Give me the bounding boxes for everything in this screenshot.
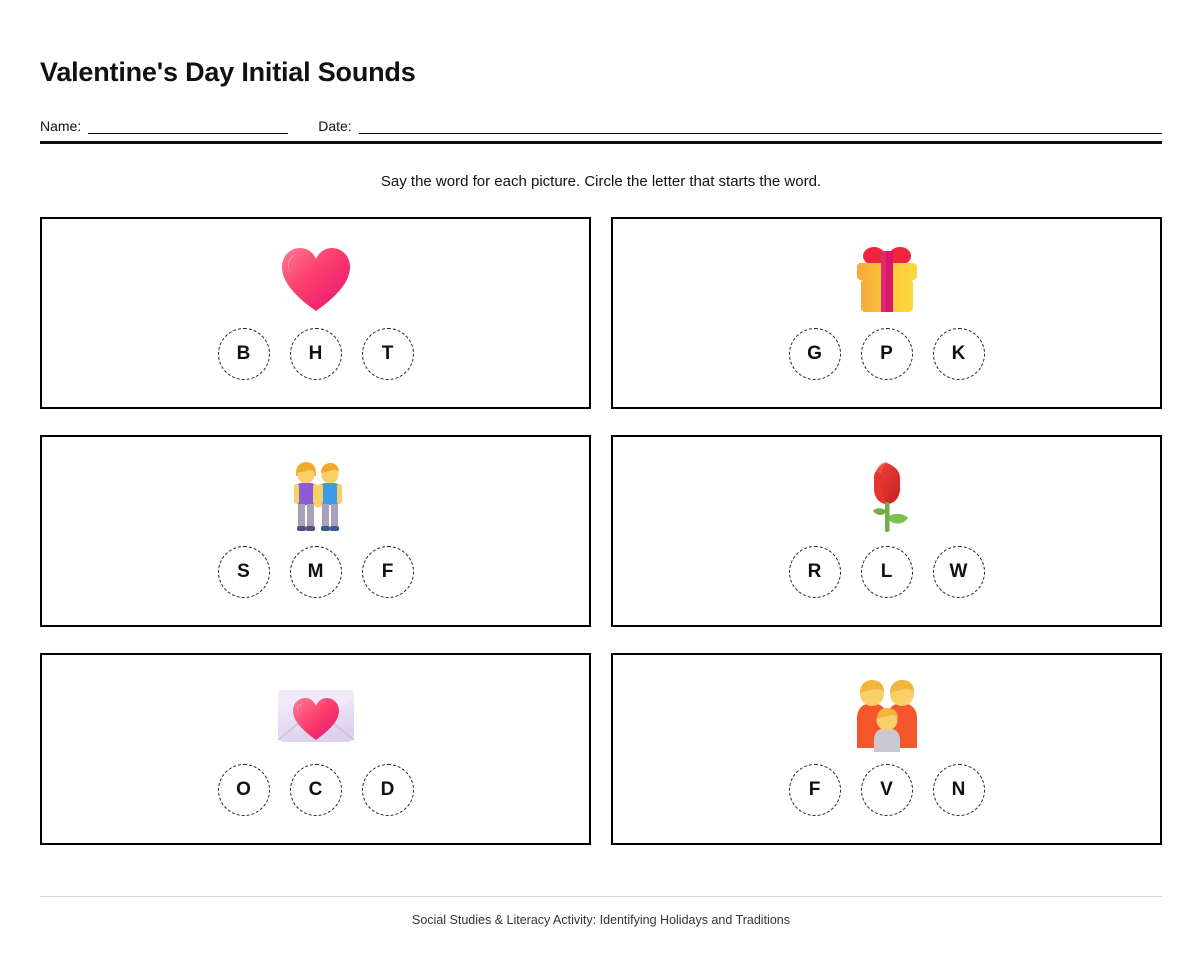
footer-text: Social Studies & Literacy Activity: Iden… <box>40 913 1162 928</box>
question-card: B H T <box>40 217 591 409</box>
footer: Social Studies & Literacy Activity: Iden… <box>40 896 1162 928</box>
question-card: G P K <box>611 217 1162 409</box>
rose-icon <box>860 459 914 537</box>
worksheet-page: Valentine's Day Initial Sounds Name: Dat… <box>0 0 1202 966</box>
choice-option[interactable]: O <box>218 764 270 816</box>
choice-row: G P K <box>789 328 985 380</box>
choice-row: O C D <box>218 764 414 816</box>
name-label: Name: <box>40 119 81 134</box>
choice-option[interactable]: H <box>290 328 342 380</box>
choice-option[interactable]: R <box>789 546 841 598</box>
gift-icon <box>848 241 926 319</box>
date-label: Date: <box>318 119 351 134</box>
choice-option[interactable]: L <box>861 546 913 598</box>
name-date-row: Name: Date: <box>40 112 1162 134</box>
name-field-group: Name: <box>40 119 288 134</box>
choice-option[interactable]: M <box>290 546 342 598</box>
choice-option[interactable]: K <box>933 328 985 380</box>
choice-row: R L W <box>789 546 985 598</box>
name-input[interactable] <box>88 121 288 134</box>
love-letter-icon <box>275 677 357 755</box>
question-card: R L W <box>611 435 1162 627</box>
footer-divider <box>40 896 1162 897</box>
date-field-group: Date: <box>318 119 1162 134</box>
choice-option[interactable]: F <box>789 764 841 816</box>
choice-option[interactable]: W <box>933 546 985 598</box>
question-grid: B H T <box>40 217 1162 845</box>
choice-option[interactable]: N <box>933 764 985 816</box>
heart-icon <box>279 241 353 319</box>
choice-row: B H T <box>218 328 414 380</box>
family-icon <box>849 677 925 755</box>
choice-option[interactable]: T <box>362 328 414 380</box>
choice-row: F V N <box>789 764 985 816</box>
choice-option[interactable]: P <box>861 328 913 380</box>
choice-option[interactable]: G <box>789 328 841 380</box>
choice-option[interactable]: D <box>362 764 414 816</box>
question-card: O C D <box>40 653 591 845</box>
choice-row: S M F <box>218 546 414 598</box>
page-title: Valentine's Day Initial Sounds <box>40 0 1162 88</box>
header-divider <box>40 141 1162 144</box>
choice-option[interactable]: B <box>218 328 270 380</box>
choice-option[interactable]: V <box>861 764 913 816</box>
choice-option[interactable]: S <box>218 546 270 598</box>
choice-option[interactable]: C <box>290 764 342 816</box>
couple-holding-hands-icon <box>284 459 348 537</box>
choice-option[interactable]: F <box>362 546 414 598</box>
question-card: S M F <box>40 435 591 627</box>
instructions-text: Say the word for each picture. Circle th… <box>40 173 1162 191</box>
date-input[interactable] <box>359 121 1162 134</box>
question-card: F V N <box>611 653 1162 845</box>
